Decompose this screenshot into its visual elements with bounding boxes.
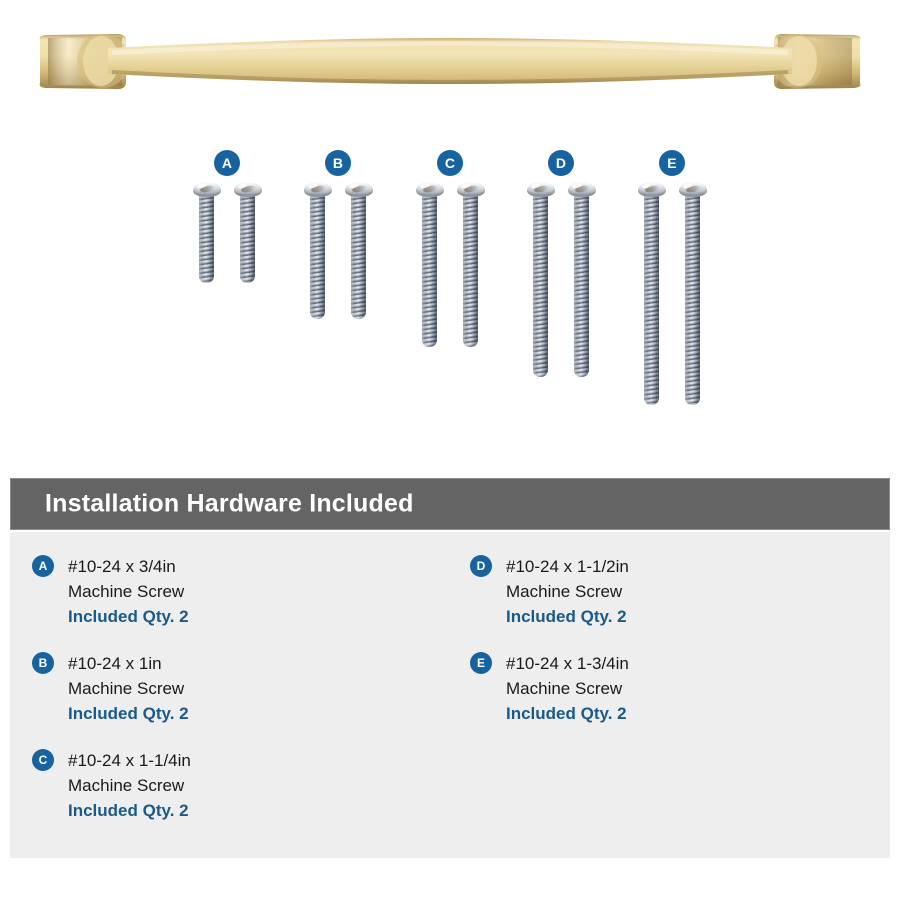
machine-screw	[416, 182, 444, 347]
screw-diagram: ABCDE	[0, 130, 900, 450]
screw-pair-e	[617, 182, 727, 405]
machine-screw	[638, 182, 666, 405]
hardware-list-item: B#10-24 x 1inMachine ScrewIncluded Qty. …	[32, 651, 452, 726]
screw-badge-e: E	[659, 150, 685, 176]
screw-head	[193, 182, 221, 197]
hardware-type-label: Machine Screw	[68, 773, 452, 798]
screw-threaded-shank	[574, 195, 589, 377]
hardware-badge-b: B	[32, 652, 54, 674]
screw-threaded-shank	[199, 195, 214, 283]
hardware-list-item: C#10-24 x 1-1/4inMachine ScrewIncluded Q…	[32, 748, 452, 823]
hardware-badge-e: E	[470, 652, 492, 674]
hardware-type-label: Machine Screw	[506, 676, 890, 701]
hardware-size-label: #10-24 x 1-1/2in	[506, 554, 890, 579]
machine-screw	[304, 182, 332, 319]
hardware-type-label: Machine Screw	[68, 676, 452, 701]
handle-bar	[108, 38, 792, 84]
screw-group-c: C	[395, 130, 505, 430]
screw-head	[345, 182, 373, 197]
machine-screw	[234, 182, 262, 283]
screw-group-b: B	[283, 130, 393, 430]
hardware-badge-c: C	[32, 749, 54, 771]
screw-pair-b	[283, 182, 393, 319]
panel-header-bar: Installation Hardware Included	[10, 478, 890, 530]
screw-group-d: D	[506, 130, 616, 430]
screw-head	[234, 182, 262, 197]
screw-head	[304, 182, 332, 197]
screw-threaded-shank	[422, 195, 437, 347]
screw-threaded-shank	[351, 195, 366, 319]
installation-hardware-panel: Installation Hardware Included A#10-24 x…	[0, 470, 900, 860]
machine-screw	[345, 182, 373, 319]
screw-threaded-shank	[685, 195, 700, 405]
hardware-qty-label: Included Qty. 2	[506, 701, 890, 726]
hardware-list-left-column: A#10-24 x 3/4inMachine ScrewIncluded Qty…	[32, 554, 452, 845]
hardware-qty-label: Included Qty. 2	[68, 798, 452, 823]
hardware-badge-d: D	[470, 555, 492, 577]
hardware-qty-label: Included Qty. 2	[506, 604, 890, 629]
screw-head	[679, 182, 707, 197]
hardware-list-item: E#10-24 x 1-3/4inMachine ScrewIncluded Q…	[470, 651, 890, 726]
hardware-size-label: #10-24 x 3/4in	[68, 554, 452, 579]
hardware-badge-a: A	[32, 555, 54, 577]
screw-badge-c: C	[437, 150, 463, 176]
handle-illustration	[0, 0, 900, 130]
screw-head	[416, 182, 444, 197]
machine-screw	[527, 182, 555, 377]
screw-pair-d	[506, 182, 616, 377]
screw-head	[568, 182, 596, 197]
hardware-qty-label: Included Qty. 2	[68, 604, 452, 629]
product-handle-image	[0, 0, 900, 130]
page-title: Installation Hardware Included	[45, 490, 414, 519]
screw-head	[457, 182, 485, 197]
hardware-type-label: Machine Screw	[68, 579, 452, 604]
hardware-size-label: #10-24 x 1-1/4in	[68, 748, 452, 773]
hardware-size-label: #10-24 x 1in	[68, 651, 452, 676]
screw-group-a: A	[172, 130, 282, 430]
screw-threaded-shank	[463, 195, 478, 347]
machine-screw	[193, 182, 221, 283]
screw-threaded-shank	[644, 195, 659, 405]
hardware-type-label: Machine Screw	[506, 579, 890, 604]
machine-screw	[679, 182, 707, 405]
screw-head	[638, 182, 666, 197]
screw-threaded-shank	[240, 195, 255, 283]
screw-threaded-shank	[310, 195, 325, 319]
machine-screw	[457, 182, 485, 347]
machine-screw	[568, 182, 596, 377]
panel-body: A#10-24 x 3/4inMachine ScrewIncluded Qty…	[10, 532, 890, 858]
screw-pair-a	[172, 182, 282, 283]
hardware-list-right-column: D#10-24 x 1-1/2inMachine ScrewIncluded Q…	[470, 554, 890, 748]
screw-pair-c	[395, 182, 505, 347]
hardware-list-item: D#10-24 x 1-1/2inMachine ScrewIncluded Q…	[470, 554, 890, 629]
screw-badge-d: D	[548, 150, 574, 176]
screw-group-e: E	[617, 130, 727, 430]
screw-badge-b: B	[325, 150, 351, 176]
hardware-size-label: #10-24 x 1-3/4in	[506, 651, 890, 676]
hardware-qty-label: Included Qty. 2	[68, 701, 452, 726]
hardware-list-item: A#10-24 x 3/4inMachine ScrewIncluded Qty…	[32, 554, 452, 629]
screw-badge-a: A	[214, 150, 240, 176]
screw-head	[527, 182, 555, 197]
screw-threaded-shank	[533, 195, 548, 377]
